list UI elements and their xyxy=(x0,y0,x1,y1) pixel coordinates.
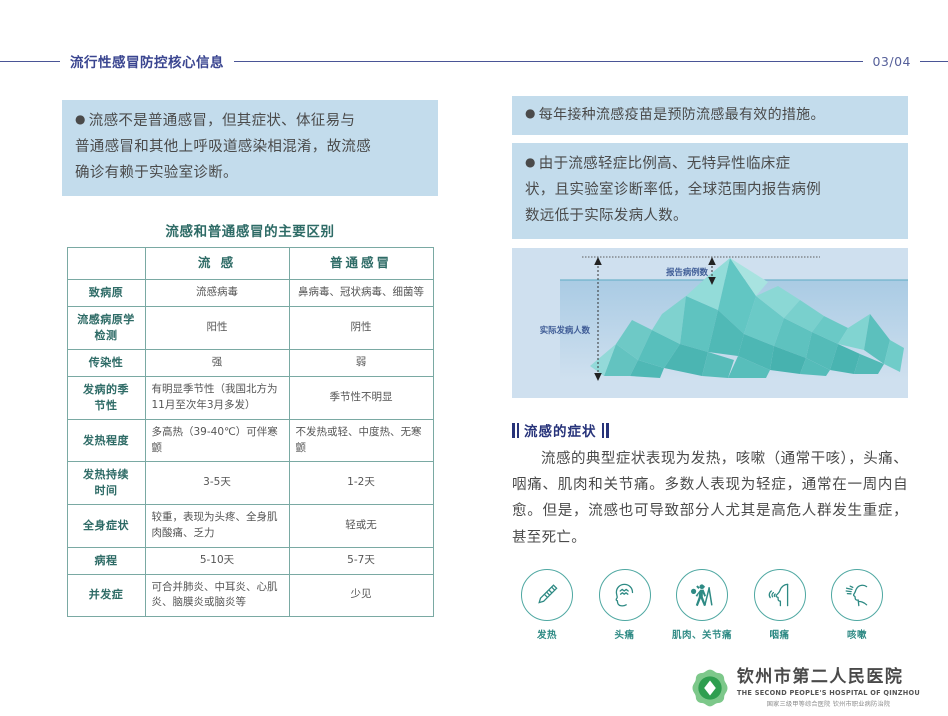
header-rule-middle xyxy=(234,61,863,62)
symptom-label: 头痛 xyxy=(590,627,660,641)
table-row-label: 发热程度 xyxy=(67,419,145,462)
left-column: ●流感不是普通感冒，但其症状、体征易与 普通感冒和其他上呼吸道感染相混淆，故流感… xyxy=(62,100,438,617)
table-cell-flu: 阳性 xyxy=(145,307,289,350)
hospital-name-en: THE SECOND PEOPLE'S HOSPITAL OF QINZHOU xyxy=(737,689,920,697)
table-cell-flu: 流感病毒 xyxy=(145,280,289,307)
symptom-item-body-ache: 肌肉、关节痛 xyxy=(667,569,737,641)
table-cell-cold: 轻或无 xyxy=(289,505,433,548)
table-row-label: 发热持续时间 xyxy=(67,462,145,505)
table-cell-flu: 多高热（39-40℃）可伴寒颤 xyxy=(145,419,289,462)
section-heading-symptoms: 流感的症状 xyxy=(512,420,908,440)
cough-icon xyxy=(831,569,883,621)
table-cell-cold: 5-7天 xyxy=(289,547,433,574)
table-row-label: 全身症状 xyxy=(67,505,145,548)
table-cell-flu: 较重，表现为头疼、全身肌肉酸痛、乏力 xyxy=(145,505,289,548)
symptom-item-cough: 咳嗽 xyxy=(822,569,892,641)
page-number: 03/04 xyxy=(863,54,920,69)
callout-flu-vs-cold: ●流感不是普通感冒，但其症状、体征易与 普通感冒和其他上呼吸道感染相混淆，故流感… xyxy=(62,100,438,196)
callout2-line-3: 数远低于实际发病人数。 xyxy=(525,208,688,224)
table-cell-flu: 可合并肺炎、中耳炎、心肌炎、脑膜炎或脑炎等 xyxy=(145,574,289,617)
callout-underreporting: ●由于流感轻症比例高、无特异性临床症 状，且实验室诊断率低，全球范围内报告病例 … xyxy=(512,143,908,239)
table-header-blank xyxy=(67,248,145,280)
symptom-item-sore-throat: 咽痛 xyxy=(745,569,815,641)
table-row-label: 致病原 xyxy=(67,280,145,307)
table-row-label: 病程 xyxy=(67,547,145,574)
table-row: 流感病原学检测阳性阴性 xyxy=(67,307,433,350)
callout2-line-1: 由于流感轻症比例高、无特异性临床症 xyxy=(539,156,791,172)
table-cell-flu: 3-5天 xyxy=(145,462,289,505)
bullet-icon: ● xyxy=(75,112,89,126)
hospital-logo-text: 钦州市第二人民医院 THE SECOND PEOPLE'S HOSPITAL O… xyxy=(737,668,920,708)
symptoms-paragraph: 流感的典型症状表现为发热，咳嗽（通常干咳），头痛、咽痛、肌肉和关节痛。多数人表现… xyxy=(512,446,908,550)
table-row: 病程5-10天5-7天 xyxy=(67,547,433,574)
table-cell-flu: 5-10天 xyxy=(145,547,289,574)
callout-line-2: 普通感冒和其他上呼吸道感染相混淆，故流感 xyxy=(75,139,371,155)
callout2-line-2: 状，且实验室诊断率低，全球范围内报告病例 xyxy=(525,182,821,198)
table-cell-cold: 少见 xyxy=(289,574,433,617)
symptom-icon-row: 发热 头痛 xyxy=(512,569,892,641)
hospital-name: 钦州市第二人民医院 xyxy=(737,668,920,687)
page-header: 流行性感冒防控核心信息 03/04 xyxy=(0,48,948,74)
comparison-table: 流 感 普通感冒 致病原流感病毒鼻病毒、冠状病毒、细菌等流感病原学检测阳性阴性传… xyxy=(67,247,434,617)
symptom-label: 发热 xyxy=(512,627,582,641)
footer-hospital-logo: 钦州市第二人民医院 THE SECOND PEOPLE'S HOSPITAL O… xyxy=(690,668,920,708)
table-row: 发热持续时间3-5天1-2天 xyxy=(67,462,433,505)
heading-bar-right-icon xyxy=(602,423,609,438)
bullet-icon: ● xyxy=(525,106,539,120)
symptom-item-headache: 头痛 xyxy=(590,569,660,641)
symptom-label: 咳嗽 xyxy=(822,627,892,641)
table-row: 全身症状较重，表现为头疼、全身肌肉酸痛、乏力轻或无 xyxy=(67,505,433,548)
iceberg-label-reported: 报告病例数 xyxy=(666,267,708,277)
bullet-icon: ● xyxy=(525,155,539,169)
page-title: 流行性感冒防控核心信息 xyxy=(60,51,234,71)
table-row-label: 流感病原学检测 xyxy=(67,307,145,350)
hospital-subtitle: 国家三级甲等综合医院 钦州市职业病防治院 xyxy=(737,699,920,708)
table-row-label: 并发症 xyxy=(67,574,145,617)
table-cell-cold: 不发热或轻、中度热、无寒颤 xyxy=(289,419,433,462)
iceberg-illustration: 报告病例数 实际发病人数 xyxy=(512,248,908,398)
table-title: 流感和普通感冒的主要区别 xyxy=(62,220,438,240)
table-row: 发热程度多高热（39-40℃）可伴寒颤不发热或轻、中度热、无寒颤 xyxy=(67,419,433,462)
thermometer-icon xyxy=(521,569,573,621)
head-pain-icon xyxy=(599,569,651,621)
header-rule-left xyxy=(0,61,60,62)
table-row: 传染性强弱 xyxy=(67,349,433,376)
callout-vaccine: ●每年接种流感疫苗是预防流感最有效的措施。 xyxy=(512,96,908,135)
table-cell-flu: 强 xyxy=(145,349,289,376)
table-cell-cold: 弱 xyxy=(289,349,433,376)
table-cell-flu: 有明显季节性（我国北方为11月至次年3月多发） xyxy=(145,376,289,419)
body-ache-icon xyxy=(676,569,728,621)
right-column: ●每年接种流感疫苗是预防流感最有效的措施。 ●由于流感轻症比例高、无特异性临床症… xyxy=(512,96,908,641)
table-header-cold: 普通感冒 xyxy=(289,248,433,280)
callout-line-3: 确诊有赖于实验室诊断。 xyxy=(75,165,238,181)
table-header-flu: 流 感 xyxy=(145,248,289,280)
symptom-label: 肌肉、关节痛 xyxy=(667,627,737,641)
iceberg-label-actual: 实际发病人数 xyxy=(540,325,591,335)
section-heading-text: 流感的症状 xyxy=(524,420,597,440)
callout-line-1: 流感不是普通感冒，但其症状、体征易与 xyxy=(89,113,355,129)
sore-throat-icon xyxy=(754,569,806,621)
table-cell-cold: 1-2天 xyxy=(289,462,433,505)
callout-vaccine-text: 每年接种流感疫苗是预防流感最有效的措施。 xyxy=(539,107,825,123)
hospital-logo-icon xyxy=(690,668,730,708)
symptom-item-fever: 发热 xyxy=(512,569,582,641)
table-cell-cold: 阴性 xyxy=(289,307,433,350)
table-header-row: 流 感 普通感冒 xyxy=(67,248,433,280)
header-rule-right xyxy=(920,61,948,62)
heading-bar-left-icon xyxy=(512,423,519,438)
table-row-label: 传染性 xyxy=(67,349,145,376)
table-row: 并发症可合并肺炎、中耳炎、心肌炎、脑膜炎或脑炎等少见 xyxy=(67,574,433,617)
table-row: 发病的季节性有明显季节性（我国北方为11月至次年3月多发）季节性不明显 xyxy=(67,376,433,419)
table-cell-cold: 鼻病毒、冠状病毒、细菌等 xyxy=(289,280,433,307)
table-cell-cold: 季节性不明显 xyxy=(289,376,433,419)
iceberg-diagram: 报告病例数 实际发病人数 xyxy=(512,248,908,398)
symptom-label: 咽痛 xyxy=(745,627,815,641)
table-row: 致病原流感病毒鼻病毒、冠状病毒、细菌等 xyxy=(67,280,433,307)
table-row-label: 发病的季节性 xyxy=(67,376,145,419)
